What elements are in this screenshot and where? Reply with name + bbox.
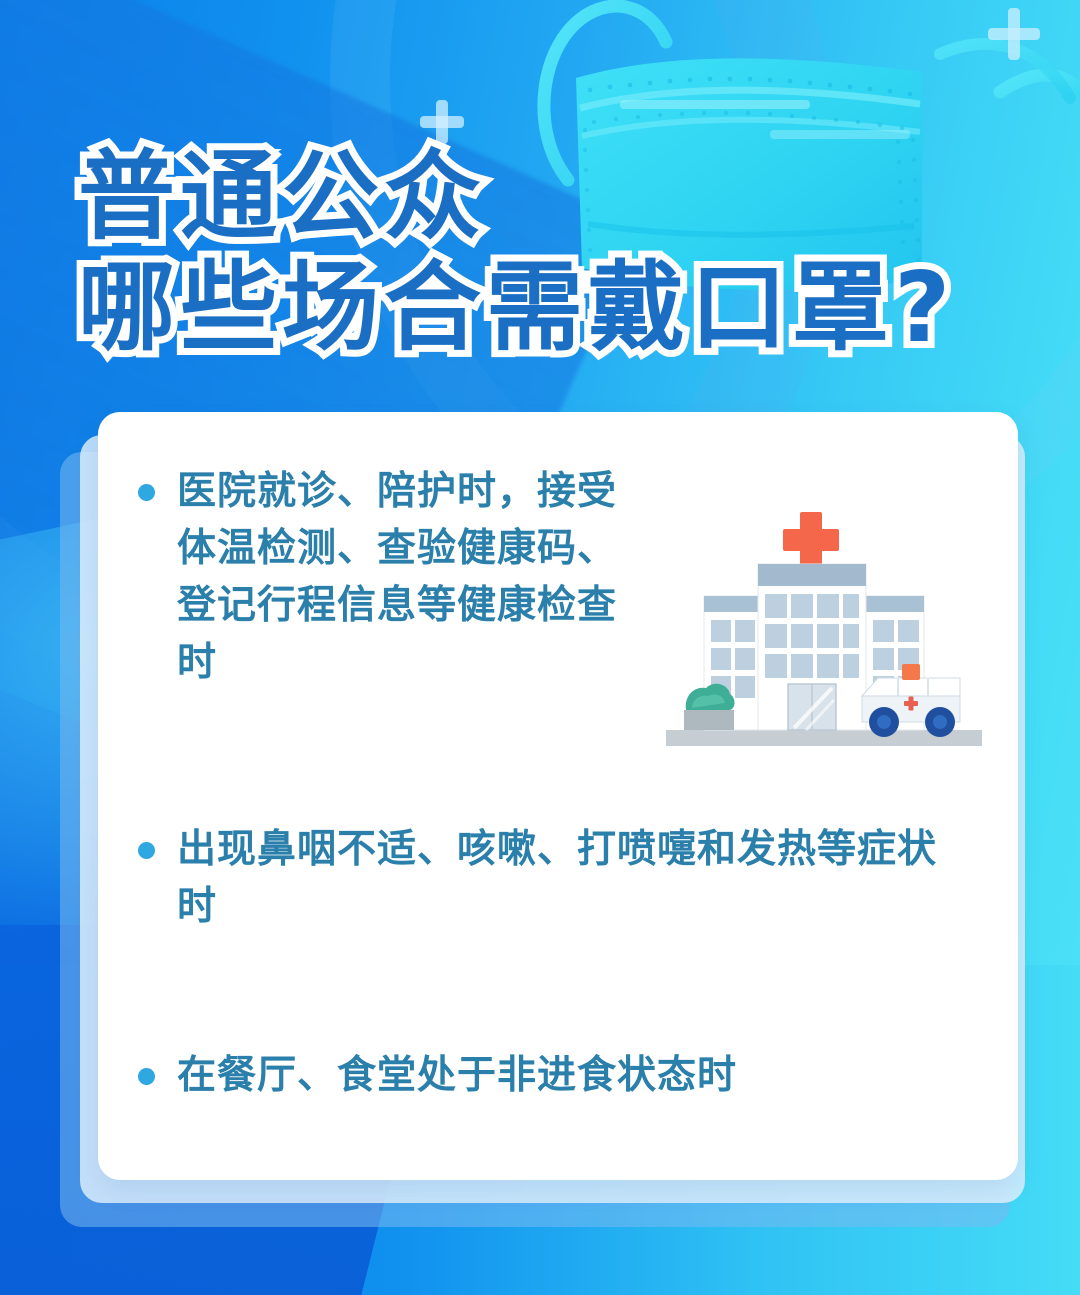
bullet-dot-icon xyxy=(138,842,155,859)
bullet-text-1: 医院就诊、陪护时，接受体温检测、查验健康码、登记行程信息等健康检查时 xyxy=(177,464,647,692)
list-item: 医院就诊、陪护时，接受体温检测、查验健康码、登记行程信息等健康检查时 xyxy=(138,464,990,692)
infographic-poster: 普通公众 哪些场合需戴口罩? xyxy=(0,0,1080,1295)
list-item: 在餐厅、食堂处于非进食状态时 xyxy=(138,1048,990,1105)
bullet-dot-icon xyxy=(138,484,155,501)
list-item: 出现鼻咽不适、咳嗽、打喷嚏和发热等症状时 xyxy=(138,822,990,936)
title-line-1: 普通公众 xyxy=(78,148,1018,247)
bullet-text-2: 出现鼻咽不适、咳嗽、打喷嚏和发热等症状时 xyxy=(177,822,967,936)
bullet-dot-icon xyxy=(138,1068,155,1085)
content-card: 医院就诊、陪护时，接受体温检测、查验健康码、登记行程信息等健康检查时 出现鼻咽不… xyxy=(98,412,1018,1180)
page-title: 普通公众 哪些场合需戴口罩? xyxy=(78,148,1018,358)
bullet-list: 医院就诊、陪护时，接受体温检测、查验健康码、登记行程信息等健康检查时 出现鼻咽不… xyxy=(138,460,990,1105)
plus-icon-right xyxy=(988,8,1040,60)
bullet-text-3: 在餐厅、食堂处于非进食状态时 xyxy=(177,1048,967,1105)
plus-icon-left xyxy=(420,100,464,144)
title-line-2: 哪些场合需戴口罩? xyxy=(78,259,1018,358)
